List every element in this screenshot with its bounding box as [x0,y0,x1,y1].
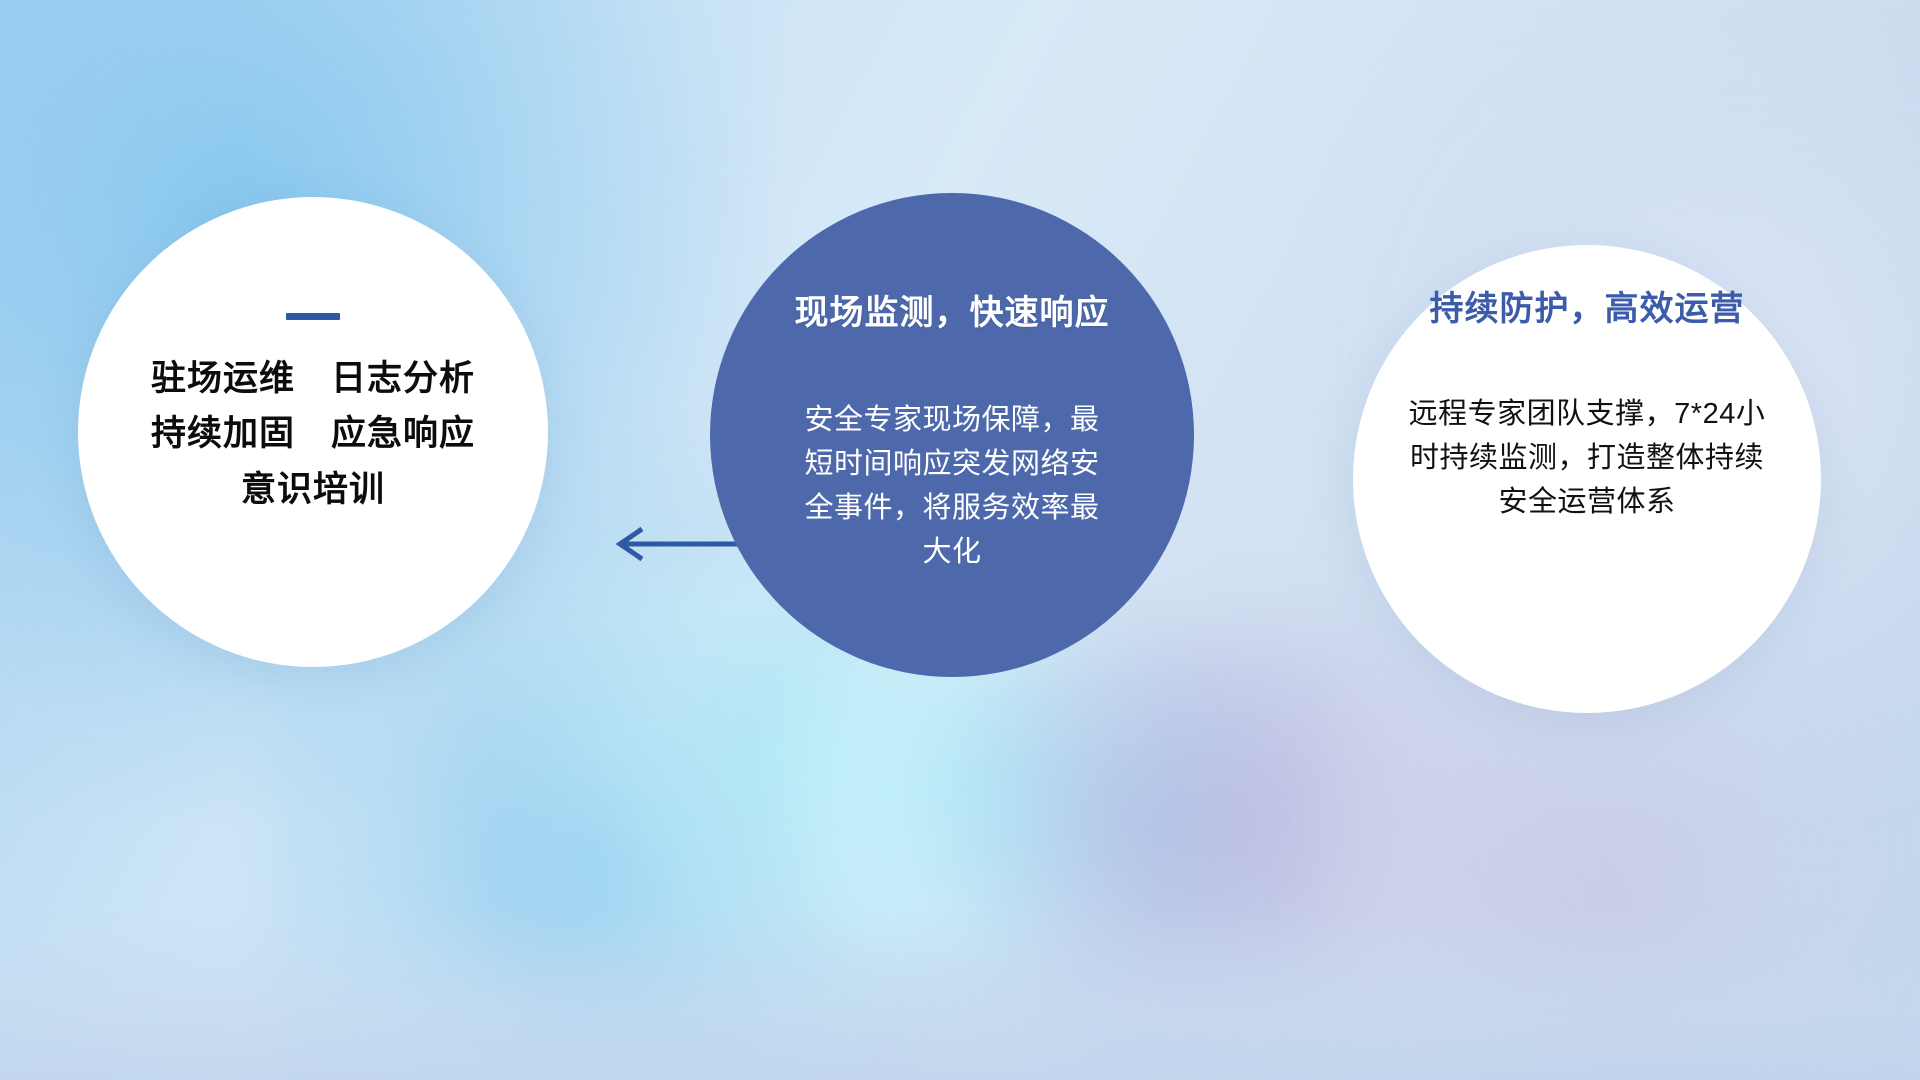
keyword-list: 驻场运维 日志分析 持续加固 应急响应 意识培训 [78,358,548,510]
keyword-item[interactable]: 意识培训 [241,469,385,510]
keyword-row: 持续加固 应急响应 [151,413,475,454]
card-body: 安全专家现场保障，最短时间响应突发网络安全事件，将服务效率最大化 [793,398,1111,574]
keyword-item[interactable]: 驻场运维 [151,358,295,399]
card-body: 远程专家团队支撑，7*24小时持续监测，打造整体持续安全运营体系 [1397,392,1777,524]
keyword-row: 意识培训 [241,469,385,510]
capability-keywords-card[interactable]: 驻场运维 日志分析 持续加固 应急响应 意识培训 [78,197,548,667]
keyword-row: 驻场运维 日志分析 [151,358,475,399]
card-title: 现场监测，快速响应 [795,285,1110,334]
continuous-protection-card[interactable]: 持续防护，高效运营 远程专家团队支撑，7*24小时持续监测，打造整体持续安全运营… [1353,245,1821,713]
onsite-monitoring-card[interactable]: 现场监测，快速响应 安全专家现场保障，最短时间响应突发网络安全事件，将服务效率最… [710,193,1194,677]
background-bottom-band [0,907,1920,1080]
keyword-item[interactable]: 日志分析 [331,358,475,399]
slide-canvas: 驻场运维 日志分析 持续加固 应急响应 意识培训 现场监测，快速响应 安全专家现… [0,0,1920,1080]
keyword-item[interactable]: 持续加固 [151,413,295,454]
card-title: 持续防护，高效运营 [1430,281,1745,330]
divider-dash-icon [286,313,340,320]
keyword-item[interactable]: 应急响应 [331,413,475,454]
